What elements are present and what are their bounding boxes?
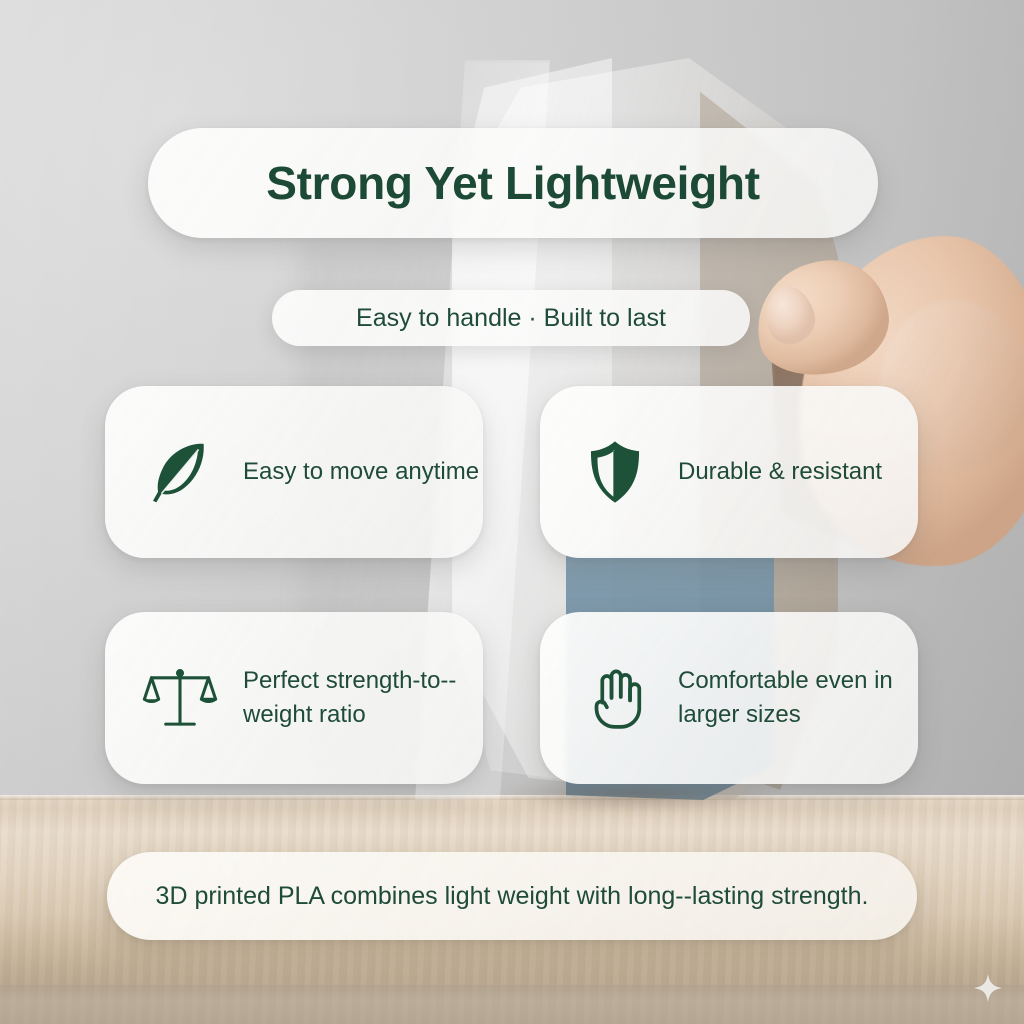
feature-card-strength-to-weight[interactable]: Perfect strength-to--weight ratio: [105, 612, 483, 784]
feature-label: Durable & resistant: [678, 455, 882, 489]
feature-card-comfortable[interactable]: Comfortable even in larger sizes: [540, 612, 918, 784]
hand-icon: [576, 659, 654, 737]
title-pill: Strong Yet Lightweight: [148, 128, 878, 238]
page-subtitle: Easy to handle · Built to last: [356, 304, 666, 333]
footer-pill: 3D printed PLA combines light weight wit…: [107, 852, 917, 940]
infographic-canvas: Strong Yet Lightweight Easy to handle · …: [0, 0, 1024, 1024]
page-title: Strong Yet Lightweight: [266, 156, 759, 210]
shield-icon: [576, 433, 654, 511]
feather-icon: [141, 433, 219, 511]
scales-icon: [141, 659, 219, 737]
subtitle-pill: Easy to handle · Built to last: [272, 290, 750, 346]
feature-card-durable[interactable]: Durable & resistant: [540, 386, 918, 558]
feature-label: Easy to move anytime: [243, 455, 479, 489]
sparkle-icon: [972, 972, 1004, 1004]
feature-label: Perfect strength-to--weight ratio: [243, 664, 483, 732]
feature-label: Comfortable even in larger sizes: [678, 664, 918, 732]
footer-description: 3D printed PLA combines light weight wit…: [110, 879, 915, 914]
shelf-front-face: [0, 985, 1024, 1024]
feature-card-easy-to-move[interactable]: Easy to move anytime: [105, 386, 483, 558]
object-cast-shadow: [470, 786, 810, 820]
